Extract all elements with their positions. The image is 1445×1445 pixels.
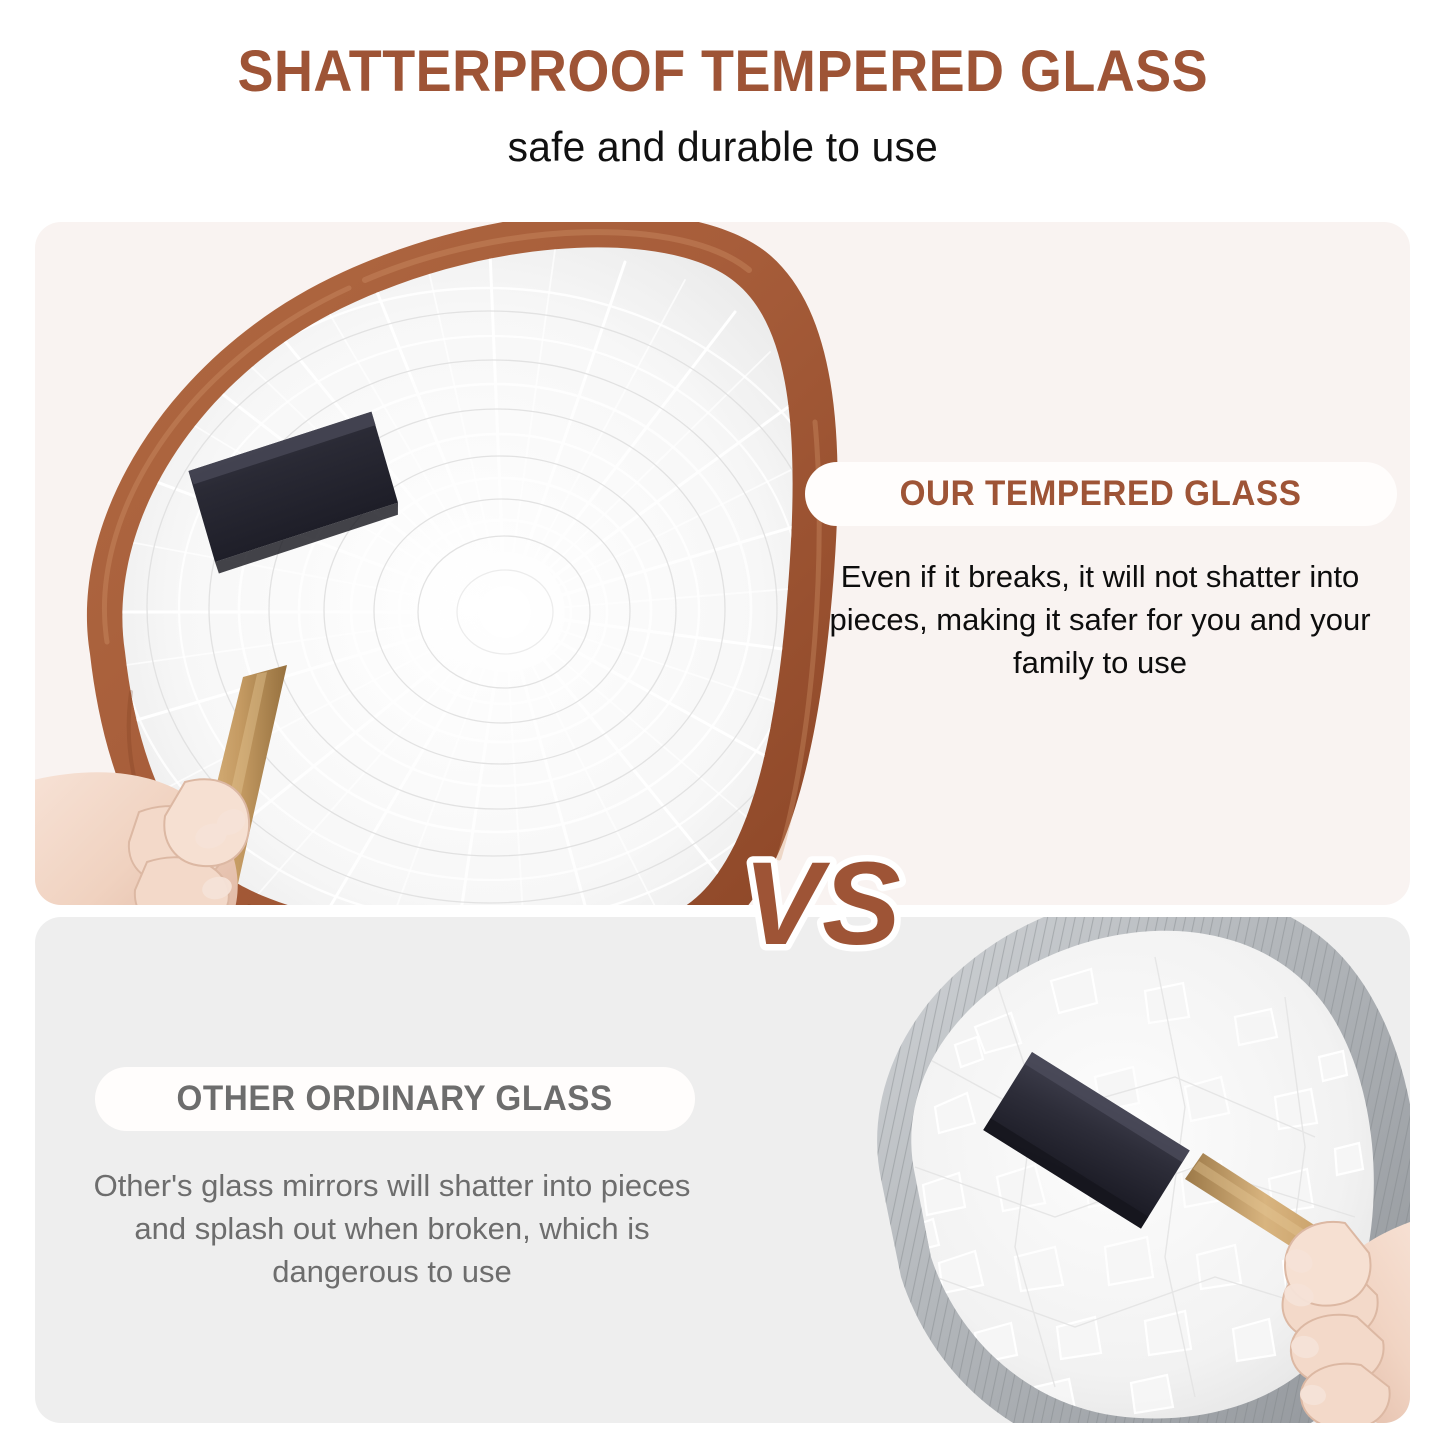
vs-badge-label: VS xyxy=(743,840,900,970)
our-tempered-glass-badge: OUR TEMPERED GLASS xyxy=(805,462,1397,526)
our-tempered-glass-badge-label: OUR TEMPERED GLASS xyxy=(900,474,1302,514)
other-ordinary-glass-badge: OTHER ORDINARY GLASS xyxy=(95,1067,695,1131)
hand-holding-hammer xyxy=(35,772,250,905)
header: SHATTERPROOF TEMPERED GLASS safe and dur… xyxy=(0,0,1445,190)
infographic-page: SHATTERPROOF TEMPERED GLASS safe and dur… xyxy=(0,0,1445,1445)
page-subtitle: safe and durable to use xyxy=(507,123,937,171)
hand-holding-hammer xyxy=(1282,1217,1410,1423)
vs-badge-icon: VS xyxy=(736,840,911,975)
other-ordinary-glass-badge-label: OTHER ORDINARY GLASS xyxy=(177,1079,613,1119)
other-ordinary-glass-description: Other's glass mirrors will shatter into … xyxy=(92,1165,692,1293)
our-tempered-glass-description: Even if it breaks, it will not shatter i… xyxy=(800,556,1400,684)
page-title: SHATTERPROOF TEMPERED GLASS xyxy=(237,38,1208,105)
